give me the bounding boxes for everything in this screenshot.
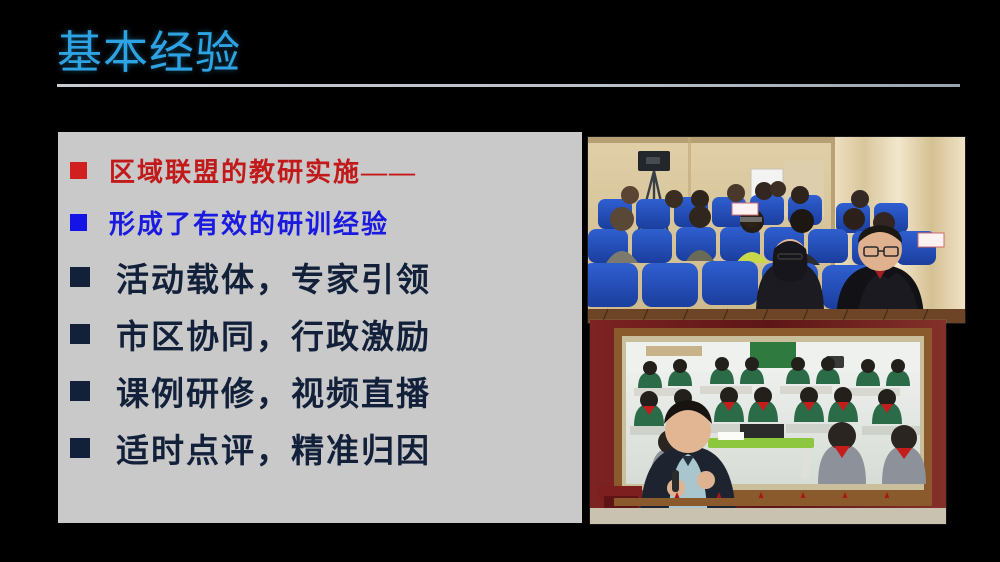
black-square-bullet-icon <box>70 267 90 287</box>
auditorium-audience-illustration <box>588 137 965 323</box>
black-square-bullet-icon <box>70 324 90 344</box>
list-item-label: 适时点评，精准归因 <box>116 424 431 472</box>
list-item[interactable]: 形成了有效的研训经验 <box>58 196 582 248</box>
list-item[interactable]: 市区协同，行政激励 <box>58 305 582 362</box>
content-panel: 区域联盟的教研实施—— 形成了有效的研训经验 活动载体，专家引领 市区协同，行政… <box>58 132 582 523</box>
list-item-label: 区域联盟的教研实施—— <box>109 152 417 189</box>
black-square-bullet-icon <box>70 438 90 458</box>
auditorium-audience-photo <box>588 137 965 323</box>
blue-square-bullet-icon <box>70 214 87 231</box>
red-square-bullet-icon <box>70 162 87 179</box>
list-item[interactable]: 课例研修，视频直播 <box>58 362 582 419</box>
list-item[interactable]: 活动载体，专家引领 <box>58 248 582 305</box>
title-block: 基本经验 <box>57 28 960 87</box>
black-square-bullet-icon <box>70 381 90 401</box>
list-item[interactable]: 适时点评，精准归因 <box>58 419 582 476</box>
title-divider-rule <box>57 84 960 87</box>
list-item-label: 活动载体，专家引领 <box>116 253 431 301</box>
slide-canvas: 基本经验 区域联盟的教研实施—— 形成了有效的研训经验 活动载体，专家引领 市区… <box>0 0 1000 562</box>
list-item-label: 课例研修，视频直播 <box>116 367 431 415</box>
list-item-label: 市区协同，行政激励 <box>116 310 431 358</box>
classroom-lesson-photo <box>590 320 946 524</box>
classroom-lesson-illustration <box>590 320 946 524</box>
list-item-label: 形成了有效的研训经验 <box>109 204 389 241</box>
page-title: 基本经验 <box>57 28 960 78</box>
list-item[interactable]: 区域联盟的教研实施—— <box>58 144 582 196</box>
bullet-list: 区域联盟的教研实施—— 形成了有效的研训经验 活动载体，专家引领 市区协同，行政… <box>58 132 582 476</box>
